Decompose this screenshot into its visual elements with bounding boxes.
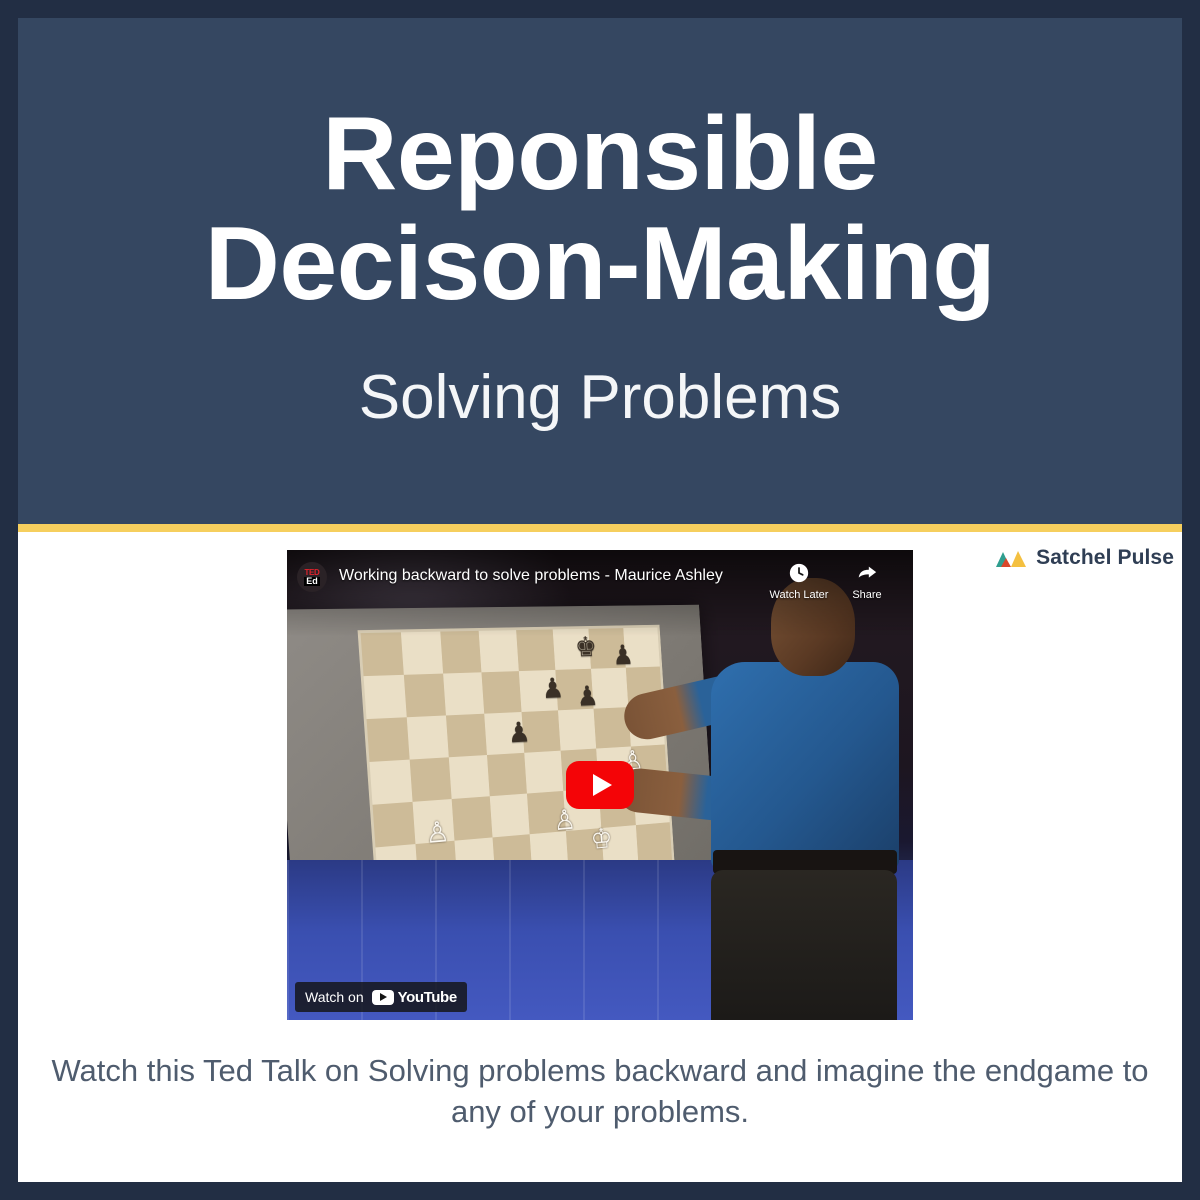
- chess-piece: ♙: [425, 818, 451, 849]
- slide-root: Reponsible Decison-Making Solving Proble…: [0, 0, 1200, 1200]
- video-top-bar: TED Ed Working backward to solve problem…: [287, 550, 913, 636]
- caption-text: Watch this Ted Talk on Solving problems …: [18, 1050, 1182, 1132]
- video-embed[interactable]: ♚♟♟♟♟♙♙♙♔♞ TED Ed: [287, 550, 913, 1020]
- youtube-logo: YouTube: [372, 989, 457, 1006]
- slide-header: Reponsible Decison-Making Solving Proble…: [18, 18, 1182, 524]
- play-button[interactable]: [566, 761, 634, 809]
- watch-later-label: Watch Later: [770, 589, 829, 601]
- clock-icon: [788, 562, 810, 584]
- satchel-pulse-mountain-icon: [995, 547, 1027, 569]
- watch-later-button[interactable]: Watch Later: [765, 562, 833, 601]
- watch-on-label: Watch on: [305, 989, 364, 1005]
- watch-on-youtube-button[interactable]: Watch on YouTube: [295, 982, 467, 1012]
- brand-name: Satchel Pulse: [1036, 546, 1174, 570]
- chess-piece: ♚: [574, 634, 597, 662]
- chess-piece: ♔: [590, 825, 613, 854]
- page-title: Reponsible Decison-Making: [100, 99, 1100, 319]
- share-button[interactable]: Share: [833, 562, 901, 601]
- youtube-play-icon: [372, 990, 394, 1005]
- ted-ed-channel-avatar[interactable]: TED Ed: [297, 562, 327, 592]
- page-subtitle: Solving Problems: [359, 362, 841, 433]
- brand-logo: Satchel Pulse: [995, 546, 1174, 570]
- ed-logo-text: Ed: [304, 577, 320, 586]
- share-label: Share: [852, 589, 881, 601]
- video-title[interactable]: Working backward to solve problems - Mau…: [339, 566, 765, 586]
- chess-piece: ♟: [507, 719, 531, 748]
- slide-content: Satchel Pulse ♚♟♟♟♟♙♙♙♔♞: [18, 532, 1182, 1182]
- chess-piece: ♟: [541, 675, 565, 703]
- chess-piece: ♙: [553, 807, 577, 836]
- chess-piece: ♟: [576, 683, 599, 711]
- accent-divider: [18, 524, 1182, 532]
- youtube-wordmark: YouTube: [398, 989, 457, 1006]
- play-triangle-icon: [593, 774, 612, 796]
- chess-piece: ♟: [612, 642, 635, 670]
- share-arrow-icon: [856, 562, 878, 584]
